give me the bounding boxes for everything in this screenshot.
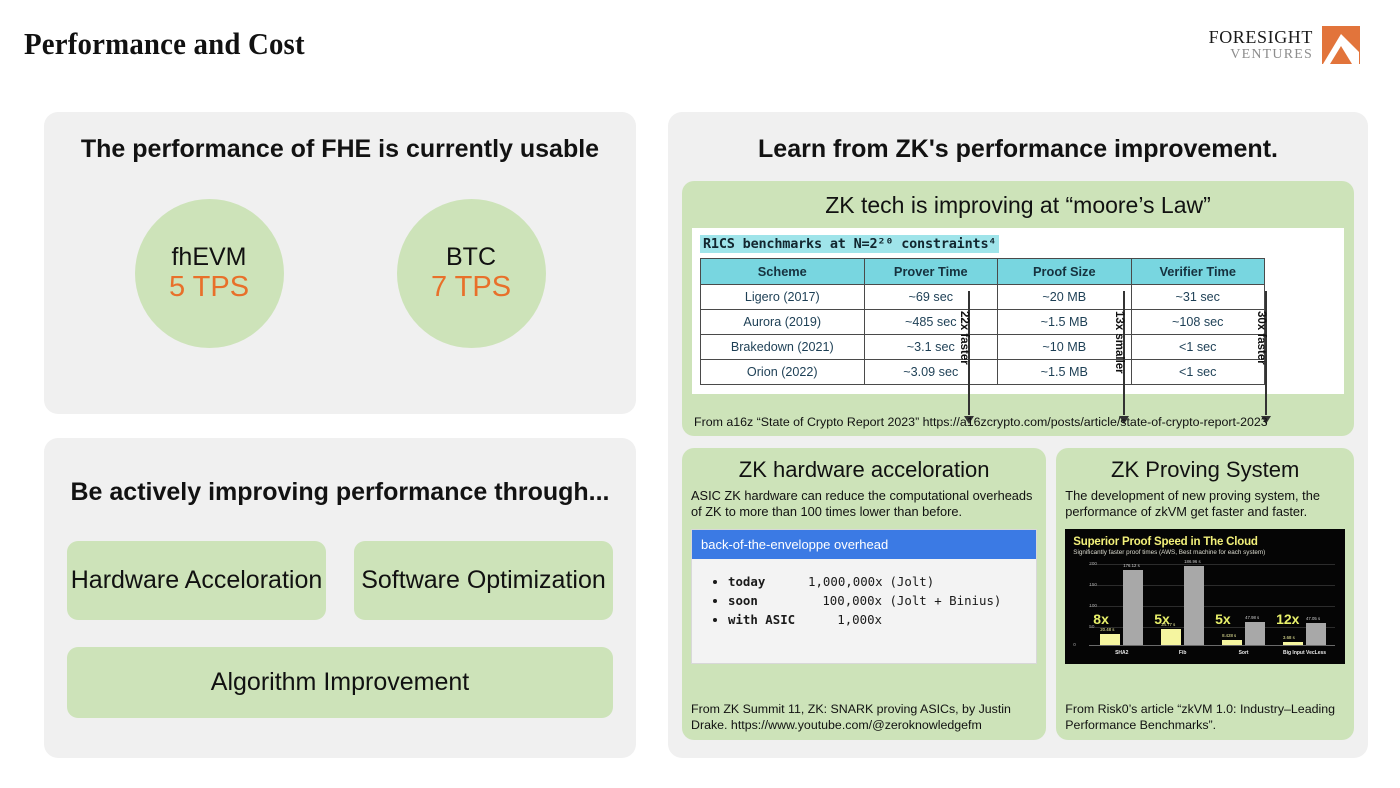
bar-r0: 34.77 s [1161, 629, 1181, 645]
cell: ~20 MB [998, 285, 1131, 310]
list-item: with ASIC1,000x [728, 610, 1036, 629]
bar-sp1: 47.98 s [1245, 622, 1265, 645]
annotation-label: 13x smaller [1113, 311, 1125, 374]
cell: ~10 MB [998, 335, 1131, 360]
overhead-note: (Jolt + Binius) [889, 593, 1001, 608]
proof-speed-plot-area: 200 150 100 50 0 8x 20.48 s 176.12 s [1073, 560, 1337, 656]
cell: ~3.09 sec [864, 360, 997, 385]
r1cs-table-caption: R1CS benchmarks at N=2²⁰ constraints⁴ [700, 235, 999, 253]
bar-value-label: 47.05 s [1306, 616, 1320, 621]
bar-group: 5x 34.77 s 186.96 s [1152, 560, 1213, 645]
cell: ~31 sec [1131, 285, 1264, 310]
cell: ~3.1 sec [864, 335, 997, 360]
bar-sp1: 176.12 s [1123, 570, 1143, 645]
y-tick: 0 [1073, 642, 1076, 647]
list-item: soon100,000x (Jolt + Binius) [728, 591, 1036, 610]
cell: Ligero (2017) [701, 285, 865, 310]
hardware-card-title: ZK hardware acceloration [682, 448, 1046, 483]
proof-speed-chart-title: Superior Proof Speed in The Cloud [1073, 536, 1337, 548]
logo-bottom-text: VENTURES [1209, 48, 1313, 62]
list-item: today1,000,000x (Jolt) [728, 572, 1036, 591]
proving-card-title: ZK Proving System [1056, 448, 1354, 483]
table-row: Aurora (2019) ~485 sec ~1.5 MB ~108 sec [701, 310, 1265, 335]
x-axis: 0 [1089, 645, 1335, 646]
moore-card-title: ZK tech is improving at “moore’s Law” [682, 181, 1354, 219]
hardware-card-citation: From ZK Summit 11, ZK: SNARK proving ASI… [691, 702, 1037, 733]
improvement-panel-heading: Be actively improving performance throug… [44, 478, 636, 507]
annotation-22x-faster: 22x faster [961, 291, 977, 424]
bar-r0: 3.68 s [1283, 642, 1303, 645]
foresight-ventures-logo: FORESIGHT VENTURES [1209, 26, 1360, 64]
page-title: Performance and Cost [24, 26, 305, 62]
annotation-label: 22x faster [958, 311, 970, 365]
mountain-icon [1322, 26, 1360, 64]
cell: Brakedown (2021) [701, 335, 865, 360]
chip-hardware-acceleration: Hardware Acceloration [67, 541, 326, 620]
bar-r0: 20.48 s [1100, 634, 1120, 645]
improvement-panel: Be actively improving performance throug… [44, 438, 636, 758]
x-tick: SHA2 [1091, 650, 1152, 656]
bar-value-label: 34.77 s [1161, 622, 1175, 627]
proving-card-citation: From Risk0’s article “zkVM 1.0: Industry… [1065, 702, 1345, 733]
improvement-chip-row: Hardware Acceloration Software Optimizat… [44, 541, 636, 620]
overhead-value: 100,000x [808, 591, 882, 610]
annotation-label: 30x faster [1255, 311, 1267, 365]
cell: ~69 sec [864, 285, 997, 310]
cell: ~485 sec [864, 310, 997, 335]
x-tick: Fib [1152, 650, 1213, 656]
overhead-slide-thumbnail: back-of-the-enveloppe overhead today1,00… [691, 529, 1037, 664]
stat-value: 7 TPS [431, 272, 511, 303]
cell: ~1.5 MB [998, 310, 1131, 335]
r1cs-benchmark-figure: R1CS benchmarks at N=2²⁰ constraints⁴ Sc… [692, 228, 1344, 394]
overhead-key: soon [728, 591, 808, 610]
x-tick: Big Input VecLess [1274, 650, 1335, 656]
overhead-value: 1,000,000x [808, 572, 882, 591]
chip-software-optimization: Software Optimization [354, 541, 613, 620]
bar-sp1: 47.05 s [1306, 623, 1326, 645]
table-row: Orion (2022) ~3.09 sec ~1.5 MB <1 sec [701, 360, 1265, 385]
bar-group-container: 8x 20.48 s 176.12 s 5x 34.77 s 186.96 s … [1091, 560, 1335, 645]
zk-panel: Learn from ZK's performance improvement.… [668, 112, 1368, 758]
cell: Aurora (2019) [701, 310, 865, 335]
col-verifier-time: Verifier Time [1131, 259, 1264, 285]
proving-card-description: The development of new proving system, t… [1056, 483, 1354, 521]
logo-wordmark: FORESIGHT VENTURES [1209, 28, 1313, 62]
stat-value: 5 TPS [169, 272, 249, 303]
fhe-stat-row: fhEVM 5 TPS BTC 7 TPS [44, 199, 636, 348]
table-header-row: Scheme Prover Time Proof Size Verifier T… [701, 259, 1265, 285]
col-proof-size: Proof Size [998, 259, 1131, 285]
bar-group: 5x 8.428 s 47.98 s [1213, 560, 1274, 645]
slide-root: Performance and Cost FORESIGHT VENTURES … [0, 0, 1400, 788]
bar-value-label: 8.428 s [1222, 633, 1236, 638]
proof-speed-chart-subtitle: Significantly faster proof times (AWS, B… [1073, 549, 1337, 556]
overhead-list: today1,000,000x (Jolt) soon100,000x (Jol… [692, 559, 1036, 630]
bar-value-label: 47.98 s [1245, 615, 1259, 620]
bar-sp1: 186.96 s [1184, 566, 1204, 645]
col-scheme: Scheme [701, 259, 865, 285]
bar-value-label: 20.48 s [1100, 627, 1114, 632]
speedup-label: 5x [1215, 611, 1231, 627]
zk-bottom-card-row: ZK hardware acceloration ASIC ZK hardwar… [682, 448, 1354, 740]
annotation-13x-smaller: 13x smaller [1116, 291, 1132, 424]
col-prover-time: Prover Time [864, 259, 997, 285]
overhead-key: today [728, 572, 808, 591]
cell: Orion (2022) [701, 360, 865, 385]
logo-top-text: FORESIGHT [1209, 28, 1313, 46]
bar-value-label: 3.68 s [1283, 635, 1295, 640]
bar-group: 12x 3.68 s 47.05 s [1274, 560, 1335, 645]
cell: <1 sec [1131, 360, 1264, 385]
moore-law-card: ZK tech is improving at “moore’s Law” R1… [682, 181, 1354, 436]
zk-proving-system-card: ZK Proving System The development of new… [1056, 448, 1354, 740]
moore-card-citation: From a16z “State of Crypto Report 2023” … [694, 415, 1268, 429]
table-row: Ligero (2017) ~69 sec ~20 MB ~31 sec [701, 285, 1265, 310]
annotation-30x-faster: 30x faster [1258, 291, 1274, 424]
speedup-label: 8x [1093, 611, 1109, 627]
overhead-note: (Jolt) [889, 574, 934, 589]
stat-name: fhEVM [171, 244, 246, 271]
stat-name: BTC [446, 244, 496, 271]
stat-circle-btc: BTC 7 TPS [397, 199, 546, 348]
bar-value-label: 186.96 s [1184, 559, 1201, 564]
zk-hardware-acceleration-card: ZK hardware acceloration ASIC ZK hardwar… [682, 448, 1046, 740]
table-row: Brakedown (2021) ~3.1 sec ~10 MB <1 sec [701, 335, 1265, 360]
bar-group: 8x 20.48 s 176.12 s [1091, 560, 1152, 645]
overhead-value: 1,000x [808, 610, 882, 629]
speedup-label: 12x [1276, 611, 1299, 627]
overhead-slide-title: back-of-the-enveloppe overhead [692, 530, 1036, 559]
zk-panel-heading: Learn from ZK's performance improvement. [668, 135, 1368, 164]
x-tick-labels: SHA2 Fib Sort Big Input VecLess [1091, 650, 1335, 656]
chip-algorithm-improvement: Algorithm Improvement [67, 647, 613, 718]
cell: ~1.5 MB [998, 360, 1131, 385]
stat-circle-fhevm: fhEVM 5 TPS [135, 199, 284, 348]
cell: <1 sec [1131, 335, 1264, 360]
bar-r0: 8.428 s [1222, 640, 1242, 645]
overhead-key: with ASIC [728, 610, 808, 629]
cell: ~108 sec [1131, 310, 1264, 335]
x-tick: Sort [1213, 650, 1274, 656]
hardware-card-description: ASIC ZK hardware can reduce the computat… [682, 483, 1046, 521]
fhe-panel-heading: The performance of FHE is currently usab… [44, 135, 636, 164]
r1cs-benchmark-table: Scheme Prover Time Proof Size Verifier T… [700, 258, 1265, 385]
fhe-performance-panel: The performance of FHE is currently usab… [44, 112, 636, 414]
bar-value-label: 176.12 s [1123, 563, 1140, 568]
proof-speed-chart: Superior Proof Speed in The Cloud Signif… [1065, 529, 1345, 664]
